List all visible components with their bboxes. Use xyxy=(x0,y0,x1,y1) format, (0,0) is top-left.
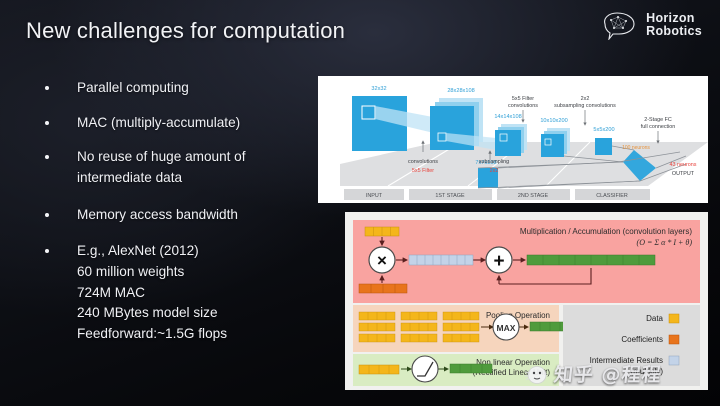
bullet-dot-icon xyxy=(45,86,49,90)
stage-label-input: INPUT xyxy=(366,193,383,199)
logo-line-2: Robotics xyxy=(646,25,702,38)
mac-intermediate-bar xyxy=(409,255,473,265)
bullet-line: MAC (multiply-accumulate) xyxy=(77,113,240,134)
bullet-text: Parallel computing xyxy=(77,78,189,99)
bullet-text: MAC (multiply-accumulate) xyxy=(77,113,240,134)
bullet-line: intermediate data xyxy=(77,168,246,189)
nonlinear-input-bar xyxy=(359,365,399,374)
bullet-line: Memory access bandwidth xyxy=(77,205,238,226)
annot-2x2-subsampling-line2: subsampling convolutions xyxy=(554,103,616,109)
bullet-line: 60 million weights xyxy=(77,262,227,283)
nonlinear-output-bar xyxy=(450,364,492,373)
legend-swatch-data xyxy=(669,314,679,323)
bullet-list: Parallel computing MAC (multiply-accumul… xyxy=(40,78,310,359)
brain-network-icon xyxy=(599,10,639,40)
bullet-dot-icon xyxy=(45,155,49,159)
bullet-text: No reuse of huge amount of intermediate … xyxy=(77,147,246,188)
bullet-text: Memory access bandwidth xyxy=(77,205,238,226)
list-item: MAC (multiply-accumulate) xyxy=(40,113,310,134)
bullet-line: 240 MBytes model size xyxy=(77,303,227,324)
mac-coefficients-input xyxy=(359,284,407,293)
annot-2x2-subsampling-line1: 2x2 xyxy=(581,96,590,102)
list-item: Parallel computing xyxy=(40,78,310,99)
max-symbol: MAX xyxy=(497,323,516,333)
annot-subsampling: subsampling xyxy=(479,159,509,165)
annot-fc-line2: full connection xyxy=(641,124,675,130)
annot-convolutions: convolutions xyxy=(408,159,438,165)
top-annotations: 5x5 Filter convolutions 2x2 subsampling … xyxy=(508,96,675,130)
stage-label-classifier: CLASSIFIER xyxy=(596,193,628,199)
annot-5x5-filter: 5x5 Filter xyxy=(412,168,434,174)
list-item: Memory access bandwidth xyxy=(40,205,310,226)
page-title: New challenges for computation xyxy=(26,18,345,44)
bullet-dot-icon xyxy=(45,121,49,125)
annot-output: OUTPUT xyxy=(672,171,695,177)
relu-operator xyxy=(412,356,438,382)
label-14x14x108: 14x14x108 xyxy=(494,114,521,120)
label-10x10x200: 10x10x200 xyxy=(540,118,567,124)
annot-5x5-filter-conv-line1: 5x5 Filter xyxy=(512,96,534,102)
legend-swatch-intermediate xyxy=(669,356,679,365)
label-5x5x200: 5x5x200 xyxy=(593,127,614,133)
pooling-data-grid xyxy=(359,312,479,342)
cnn-pipeline-svg: 32x32 28x28x108 14x14x108 10x10x200 5x5x… xyxy=(318,76,708,203)
multiply-symbol: × xyxy=(377,251,387,270)
annot-43-neurons: 43 neurons xyxy=(670,162,697,168)
legend-label-intermediate: Intermediate Results xyxy=(590,356,663,365)
bullet-line: Feedforward:~1.5G flops xyxy=(77,324,227,345)
mac-formula: (O = Σ α * I + θ) xyxy=(637,238,693,247)
bullet-line: E.g., AlexNet (2012) xyxy=(77,241,227,262)
logo-wordmark: Horizon Robotics xyxy=(646,12,702,38)
bullet-line: 724M MAC xyxy=(77,283,227,304)
label-100-neurons: 100 neurons xyxy=(622,145,650,151)
list-item: E.g., AlexNet (2012) 60 million weights … xyxy=(40,241,310,344)
horizon-robotics-logo: Horizon Robotics xyxy=(599,10,702,40)
mac-title: Multiplication / Accumulation (convoluti… xyxy=(520,227,692,236)
bullet-text: E.g., AlexNet (2012) 60 million weights … xyxy=(77,241,227,344)
legend-label-intermediate-sub: (multiply) xyxy=(631,367,664,376)
list-item: No reuse of huge amount of intermediate … xyxy=(40,147,310,188)
bullet-dot-icon xyxy=(45,249,49,253)
stage-bars: INPUT 1ST STAGE 2ND STAGE CLASSIFIER xyxy=(344,189,650,200)
operations-figure: Multiplication / Accumulation (convoluti… xyxy=(345,212,708,390)
mac-output-bar xyxy=(527,255,655,265)
bullet-dot-icon xyxy=(45,213,49,217)
bullet-line: Parallel computing xyxy=(77,78,189,99)
annot-2x2: 2x2 xyxy=(490,168,499,174)
legend-label-data: Data xyxy=(646,314,663,323)
label-32x32: 32x32 xyxy=(371,86,386,92)
operations-svg: Multiplication / Accumulation (convoluti… xyxy=(345,212,708,390)
mac-data-input xyxy=(365,227,399,236)
legend-swatch-coefficients xyxy=(669,335,679,344)
legend-label-coefficients: Coefficients xyxy=(621,335,663,344)
stage-label-1st: 1ST STAGE xyxy=(435,193,465,199)
label-28x28x108: 28x28x108 xyxy=(447,88,474,94)
cnn-pipeline-figure: 32x32 28x28x108 14x14x108 10x10x200 5x5x… xyxy=(318,76,708,203)
annot-5x5-filter-conv-line2: convolutions xyxy=(508,103,538,109)
bullet-line: No reuse of huge amount of xyxy=(77,147,246,168)
slide-root: New challenges for computation Horizon R… xyxy=(0,0,720,406)
stage-label-2nd: 2ND STAGE xyxy=(518,193,549,199)
annot-fc-line1: 2-Stage FC xyxy=(644,117,672,123)
add-symbol: + xyxy=(493,251,504,272)
